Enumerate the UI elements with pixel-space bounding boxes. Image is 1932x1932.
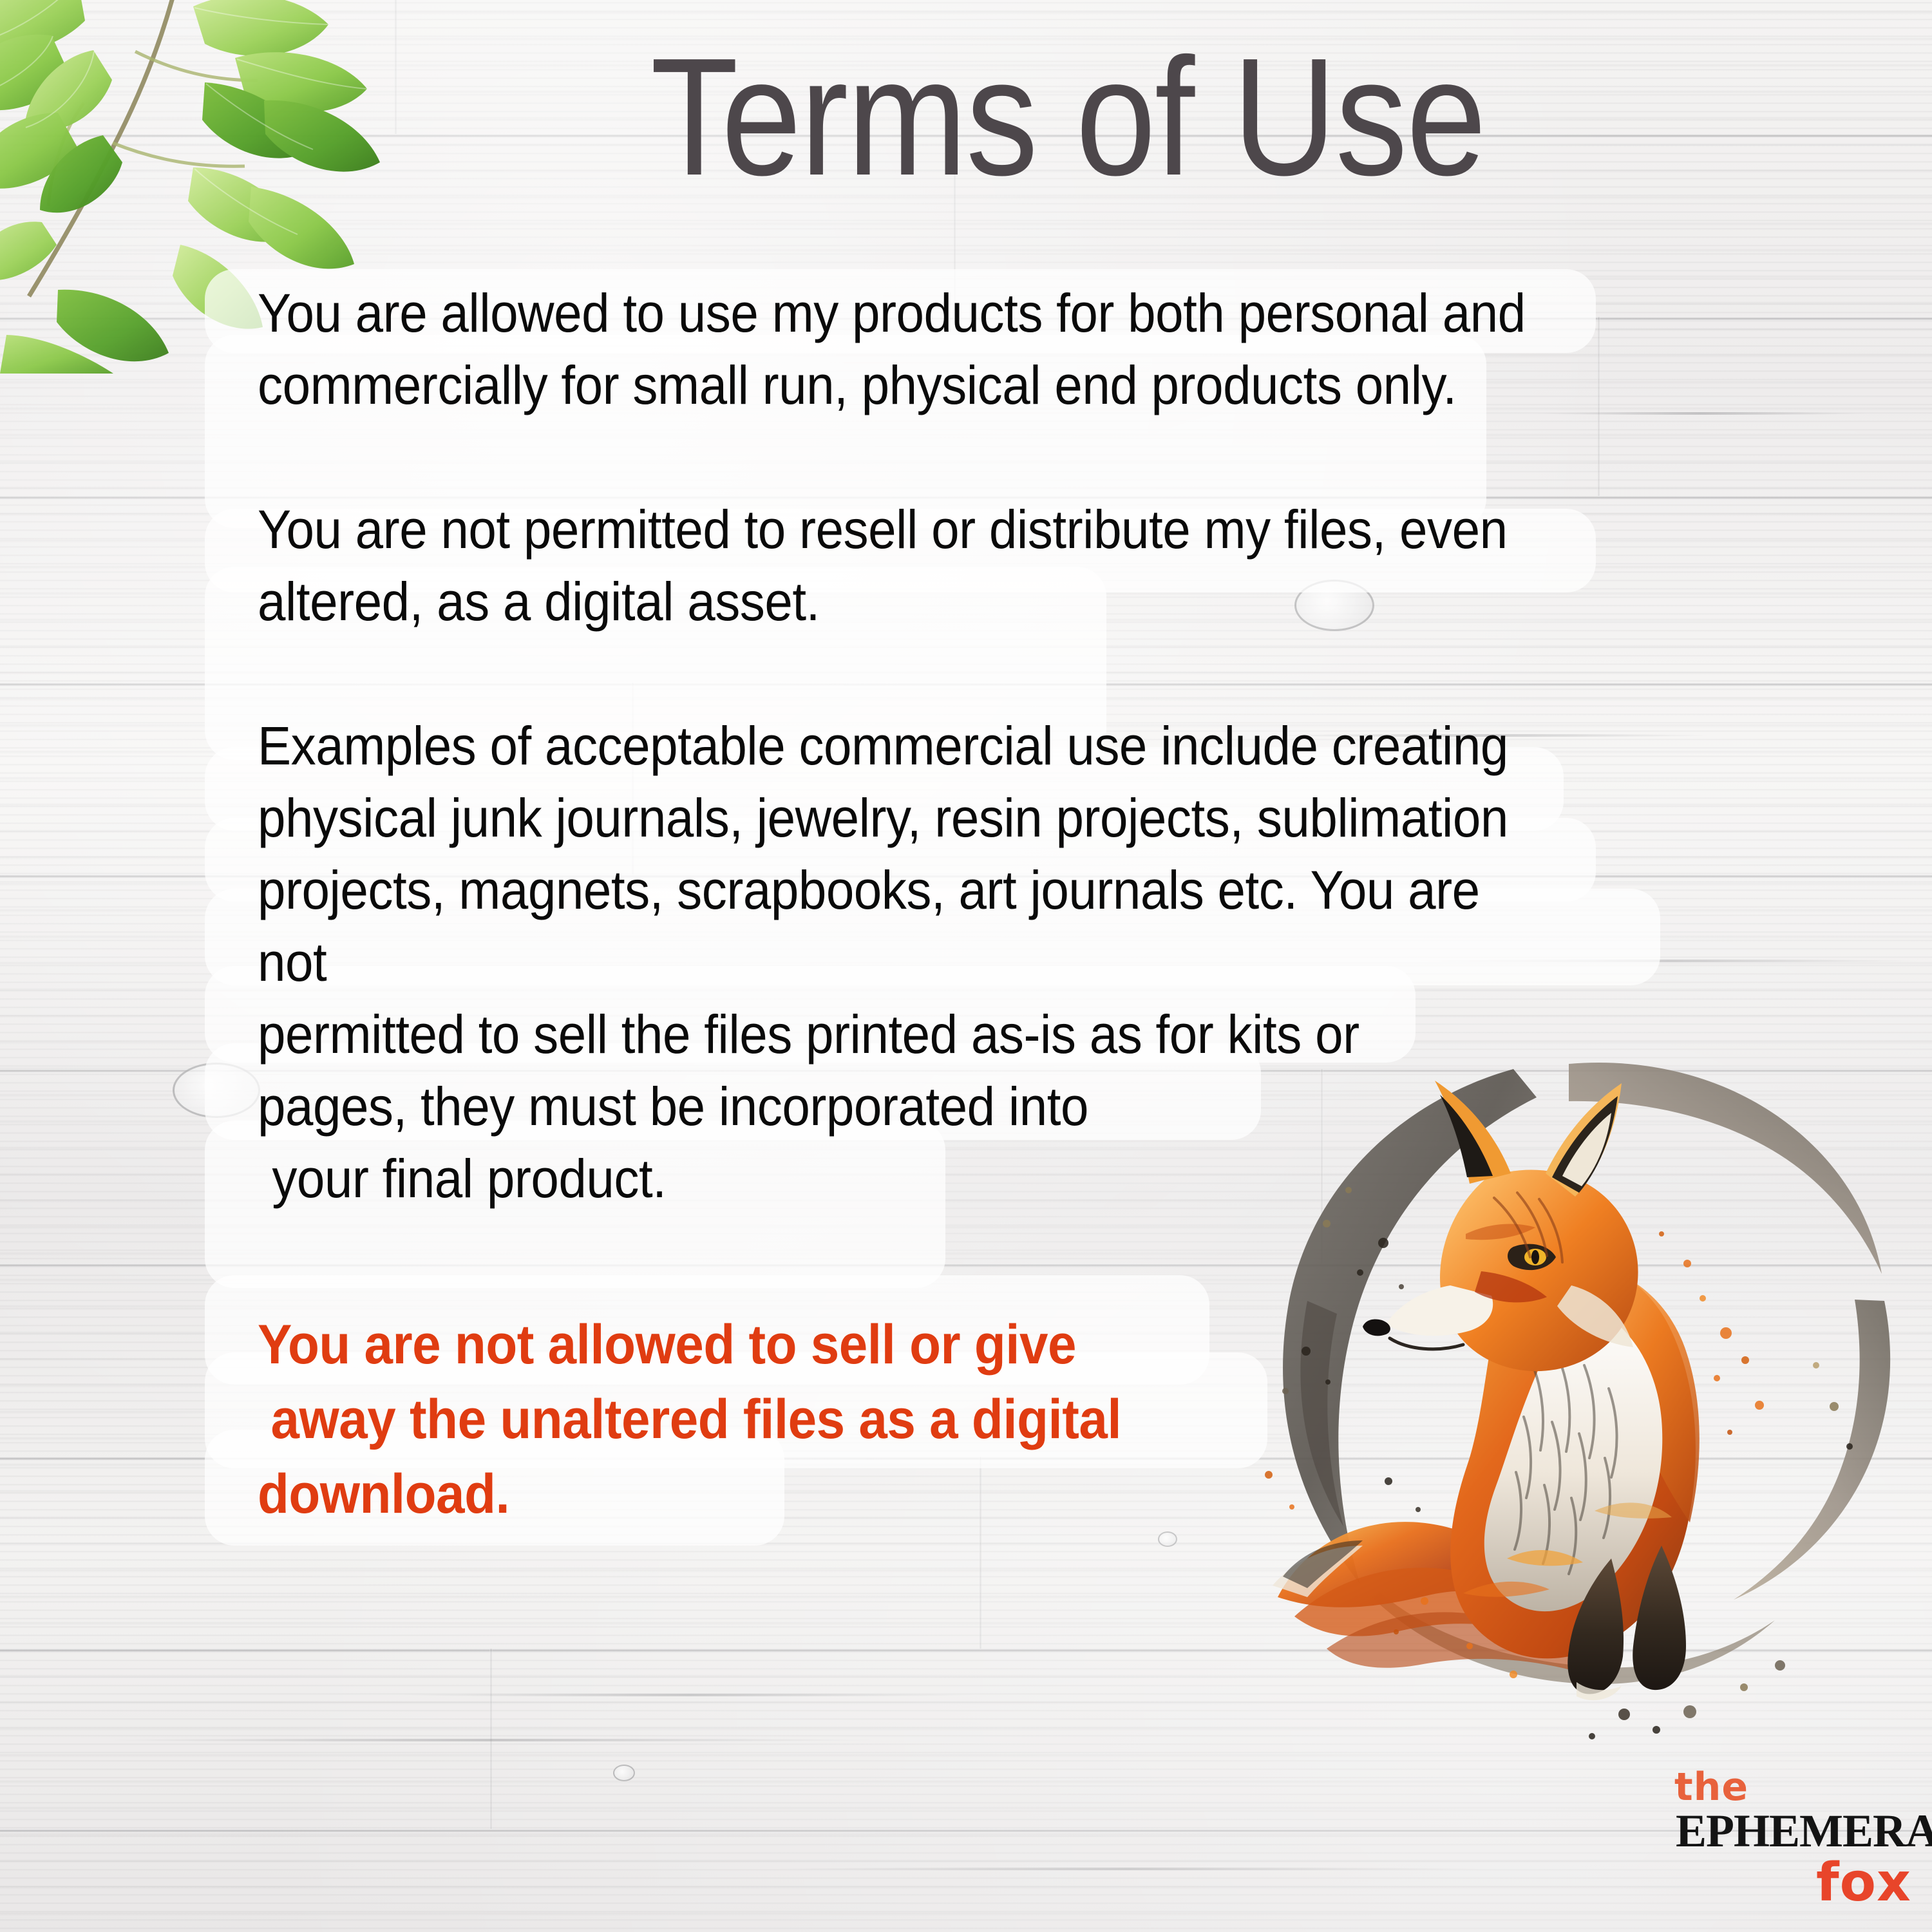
watercolor-fox-illustration	[1211, 1030, 1932, 1790]
paragraph-1-line-1: You are allowed to use my products for b…	[258, 283, 1526, 343]
warning-line-3: download.	[258, 1463, 509, 1525]
plank-joint	[1597, 317, 1600, 496]
paragraph-3-line-3: projects, magnets, scrapbooks, art journ…	[258, 860, 1480, 992]
wood-grain	[399, 1694, 979, 1696]
paragraph-1: You are allowed to use my products for b…	[258, 277, 1528, 421]
warning-text: You are not allowed to sell or give away…	[258, 1307, 1156, 1531]
paragraph-2: You are not permitted to resell or distr…	[258, 493, 1528, 638]
plank-joint	[394, 0, 397, 134]
paragraph-3-line-2: physical junk journals, jewelry, resin p…	[258, 788, 1508, 848]
paragraph-3-line-1: Examples of acceptable commercial use in…	[258, 715, 1508, 776]
wood-knot	[173, 1063, 260, 1118]
brand-logo: the EPHEMERAL fox	[1655, 1765, 1926, 1926]
paragraph-3-line-5: pages, they must be incorporated into	[258, 1076, 1088, 1137]
wood-knot	[613, 1765, 635, 1781]
wood-knot	[1158, 1531, 1177, 1547]
page-title: Terms of Use	[650, 33, 1592, 201]
paragraph-3-line-4: permitted to sell the files printed as-i…	[258, 1004, 1359, 1065]
paragraph-2-line-1: You are not permitted to resell or distr…	[258, 499, 1508, 560]
logo-line-the: the	[1674, 1765, 1748, 1810]
plank-divider	[0, 1829, 1932, 1833]
paragraph-1-line-2: commercially for small run, physical end…	[258, 355, 1457, 415]
wood-grain	[1533, 412, 1868, 415]
warning-line-2: away the unaltered files as a digital	[258, 1382, 1156, 1457]
wood-grain	[773, 1868, 1481, 1870]
warning-line-1: You are not allowed to sell or give	[258, 1314, 1076, 1376]
wood-grain	[103, 1739, 876, 1741]
paragraph-2-line-2: altered, as a digital asset.	[258, 571, 820, 632]
terms-of-use-page: Terms of Use You are allowed to use my p…	[0, 0, 1932, 1932]
logo-line-ephemeral: EPHEMERAL	[1676, 1804, 1932, 1858]
logo-line-fox: fox	[1816, 1852, 1911, 1913]
